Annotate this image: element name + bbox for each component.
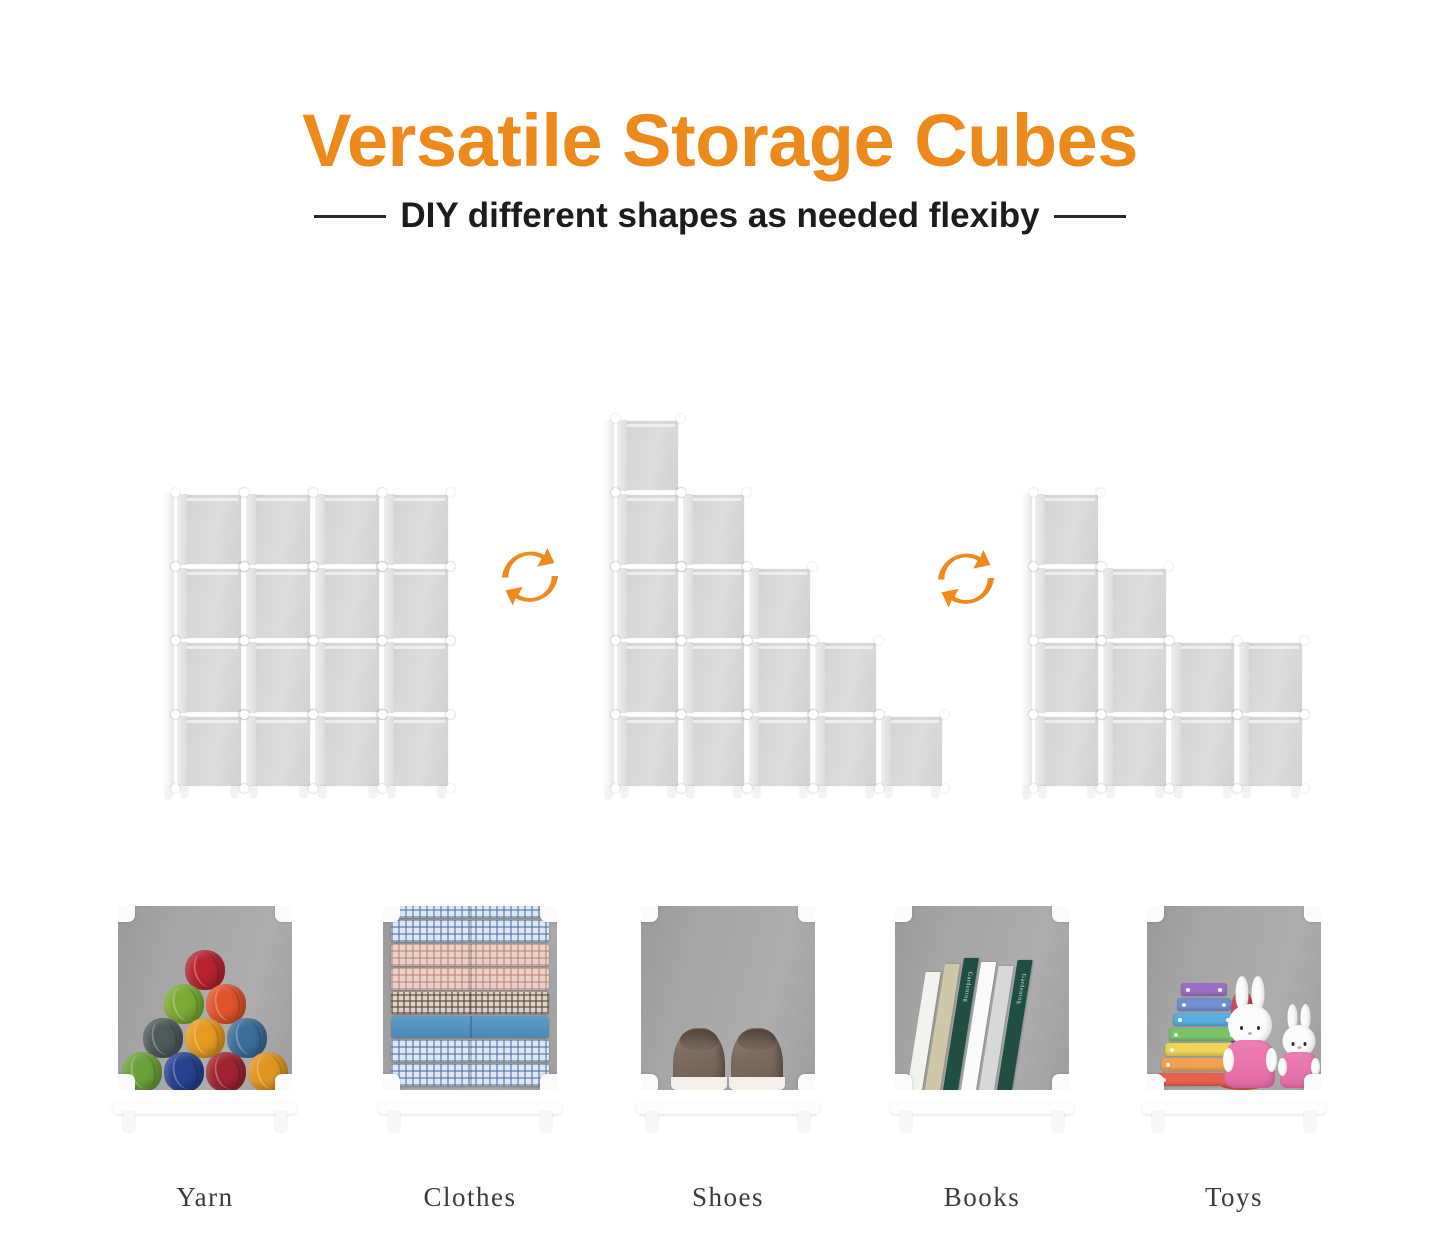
corner-connector-icon <box>109 1074 135 1096</box>
storage-cube <box>1032 713 1102 790</box>
usecase-cube-toys <box>1136 898 1332 1098</box>
corner-connector-icon <box>1304 900 1330 922</box>
folded-shirt <box>391 898 549 918</box>
connector-dot-icon <box>809 710 818 719</box>
connector-dot-icon <box>1029 784 1038 793</box>
connector-dot-icon <box>1097 636 1106 645</box>
folded-shirt <box>391 968 549 990</box>
connector-dot-icon <box>240 784 249 793</box>
shelf-foot <box>250 786 257 798</box>
connector-dot-icon <box>171 562 180 571</box>
bunny-arm-right <box>1266 1048 1277 1072</box>
subtitle-rule-left <box>314 215 386 218</box>
usecase-label-books: Books <box>884 1182 1080 1213</box>
shelf-foot <box>1039 786 1046 798</box>
subtitle-rule-right <box>1054 215 1126 218</box>
bunny-nose <box>1297 1046 1301 1049</box>
storage-cube <box>1032 565 1102 642</box>
shelf-body <box>600 417 946 790</box>
base-leg-left <box>646 1112 658 1132</box>
connector-dot-icon <box>378 562 387 571</box>
connector-dot-icon <box>446 710 455 719</box>
connector-dot-icon <box>742 488 751 497</box>
usecase-cube-shoes <box>630 898 826 1098</box>
subtitle-row: DIY different shapes as needed flexiby <box>0 196 1440 236</box>
connector-dot-icon <box>676 414 685 423</box>
shelf-foot <box>388 786 395 798</box>
shelf-column <box>1168 639 1238 790</box>
shelf-column <box>381 491 452 790</box>
connector-dot-icon <box>1029 488 1038 497</box>
page-header: Versatile Storage Cubes DIY different sh… <box>0 0 1440 236</box>
folded-shirt <box>391 1064 549 1086</box>
connector-dot-icon <box>378 710 387 719</box>
folded-shirt <box>391 1040 549 1062</box>
shelf-configuration-grid-4x4 <box>160 491 452 790</box>
shelf-column <box>746 565 814 790</box>
storage-cube <box>312 713 383 790</box>
corner-connector-icon <box>886 900 912 922</box>
bunny-arm-left <box>1278 1058 1287 1076</box>
shelf-column <box>878 713 946 790</box>
connector-dot-icon <box>240 488 249 497</box>
connector-dot-icon <box>171 710 180 719</box>
connector-dot-icon <box>171 784 180 793</box>
rotate-arrows-icon-2 <box>930 542 1002 614</box>
bunny-eye-left <box>1292 1042 1295 1046</box>
bunny-nose <box>1248 1032 1252 1035</box>
shelf-configuration-staircase-descending-5 <box>600 417 946 790</box>
shelf-column <box>1032 491 1102 790</box>
connector-dot-icon <box>240 562 249 571</box>
storage-cube <box>1168 713 1238 790</box>
shoe-right <box>731 1028 783 1090</box>
corner-connector-icon <box>1138 1074 1164 1096</box>
corner-connector-icon <box>798 900 824 922</box>
connector-dot-icon <box>743 784 752 793</box>
usecase-label-toys: Toys <box>1136 1182 1332 1213</box>
connector-dot-icon <box>378 784 387 793</box>
shelf-column <box>1236 639 1306 790</box>
connector-dot-icon <box>446 488 455 497</box>
book-spine-text: Gardening <box>961 972 972 1003</box>
shelf-foot <box>1088 786 1095 798</box>
connector-dot-icon <box>940 710 949 719</box>
connector-dot-icon <box>1029 562 1038 571</box>
folded-shirt <box>391 920 549 942</box>
storage-cube <box>1032 491 1102 568</box>
base-bar <box>1142 1102 1326 1114</box>
storage-cube <box>381 713 452 790</box>
base-leg-left <box>123 1112 135 1132</box>
usecase-cube-books: GardeningGardening <box>884 898 1080 1098</box>
cube-base <box>1136 1098 1332 1136</box>
base-bar <box>378 1102 562 1114</box>
base-leg-right <box>798 1112 810 1132</box>
cube-base <box>630 1098 826 1136</box>
shelf-foot <box>687 786 694 798</box>
usecase-cube-yarn <box>107 898 303 1098</box>
large-bunny-icon <box>1221 976 1279 1088</box>
connector-dot-icon <box>1097 562 1106 571</box>
corner-connector-icon <box>1138 900 1164 922</box>
folded-shirt <box>391 992 549 1014</box>
connector-dot-icon <box>171 636 180 645</box>
shelf-foot <box>319 786 326 798</box>
shelf-foot <box>1156 786 1163 798</box>
corner-connector-icon <box>1052 900 1078 922</box>
base-leg-right <box>1052 1112 1064 1132</box>
storage-cube <box>746 713 814 790</box>
shelf-body <box>160 491 452 790</box>
book-spine-text: Gardening <box>1015 974 1026 1005</box>
bunny-eye-right <box>1257 1026 1260 1030</box>
shelf-column <box>243 491 314 790</box>
connector-dot-icon <box>677 488 686 497</box>
rotate-arrows-icon <box>494 540 566 612</box>
storage-cube <box>243 565 314 642</box>
shelf-foot <box>668 786 675 798</box>
cube-base <box>884 1098 1080 1136</box>
connector-dot-icon <box>809 636 818 645</box>
connector-dot-icon <box>1096 488 1105 497</box>
connector-dot-icon <box>240 710 249 719</box>
bunny-eye-right <box>1304 1042 1307 1046</box>
connector-dot-icon <box>309 636 318 645</box>
shelf-foot <box>734 786 741 798</box>
shelf-foot <box>885 786 892 798</box>
connector-dot-icon <box>240 636 249 645</box>
storage-cube <box>243 639 314 716</box>
connector-dot-icon <box>1300 710 1309 719</box>
storage-cube <box>614 417 682 494</box>
usecase-cubes-row: Yarn Clothes <box>0 898 1440 1243</box>
storage-cube <box>174 565 245 642</box>
storage-cube <box>614 639 682 716</box>
shelf-foot <box>1292 786 1299 798</box>
storage-cube <box>174 639 245 716</box>
book-row-icon: GardeningGardening <box>907 958 1033 1090</box>
usecase-label-clothes: Clothes <box>372 1182 568 1213</box>
corner-connector-icon <box>632 900 658 922</box>
connector-dot-icon <box>1029 636 1038 645</box>
storage-cube <box>243 491 314 568</box>
shelf-foot <box>800 786 807 798</box>
base-leg-right <box>540 1112 552 1132</box>
storage-cube <box>1032 639 1102 716</box>
connector-dot-icon <box>378 488 387 497</box>
base-bar <box>636 1102 820 1114</box>
shelf-foot <box>300 786 307 798</box>
connector-dot-icon <box>1165 710 1174 719</box>
shelf-foot <box>1175 786 1182 798</box>
connector-dot-icon <box>677 784 686 793</box>
base-bar <box>113 1102 297 1114</box>
connector-dot-icon <box>378 636 387 645</box>
usecase-books: GardeningGardening Books <box>884 898 1080 1213</box>
shelf-foot <box>369 786 376 798</box>
corner-connector-icon <box>632 1074 658 1096</box>
shelf-column <box>614 417 682 790</box>
xylophone-and-bunnies-icon <box>1147 906 1321 1090</box>
connector-dot-icon <box>875 710 884 719</box>
page-title: Versatile Storage Cubes <box>0 104 1440 178</box>
cube-base <box>107 1098 303 1136</box>
page-subtitle: DIY different shapes as needed flexiby <box>400 196 1039 236</box>
base-leg-left <box>388 1112 400 1132</box>
base-bar <box>890 1102 1074 1114</box>
connector-dot-icon <box>1097 710 1106 719</box>
connector-dot-icon <box>940 784 949 793</box>
connector-dot-icon <box>677 562 686 571</box>
connector-dot-icon <box>611 562 620 571</box>
storage-cube <box>312 491 383 568</box>
storage-cube <box>174 491 245 568</box>
corner-connector-icon <box>109 900 135 922</box>
shelf-foot <box>181 786 188 798</box>
shelf-foot <box>438 786 445 798</box>
shoe-left <box>673 1028 725 1090</box>
storage-cube <box>680 713 748 790</box>
connector-dot-icon <box>611 636 620 645</box>
shelf-foot <box>866 786 873 798</box>
storage-cube <box>878 713 946 790</box>
connector-dot-icon <box>1164 562 1173 571</box>
shelf-body <box>1018 491 1306 790</box>
corner-connector-icon <box>540 900 566 922</box>
connector-dot-icon <box>677 710 686 719</box>
connector-dot-icon <box>309 562 318 571</box>
connector-dot-icon <box>874 636 883 645</box>
base-leg-right <box>275 1112 287 1132</box>
usecase-shoes: Shoes <box>630 898 826 1213</box>
shelf-column <box>312 491 383 790</box>
storage-cube <box>312 565 383 642</box>
shelf-column <box>680 491 748 790</box>
storage-cube <box>680 639 748 716</box>
loafer-shoes-icon <box>673 1028 783 1090</box>
corner-connector-icon <box>540 1074 566 1096</box>
storage-cube <box>1168 639 1238 716</box>
usecase-label-shoes: Shoes <box>630 1182 826 1213</box>
storage-cube <box>680 565 748 642</box>
connector-dot-icon <box>1300 636 1309 645</box>
connector-dot-icon <box>446 784 455 793</box>
storage-cube <box>1236 713 1306 790</box>
connector-dot-icon <box>1233 636 1242 645</box>
shelf-foot <box>819 786 826 798</box>
cube-base <box>372 1098 568 1136</box>
storage-cube <box>1236 639 1306 716</box>
corner-connector-icon <box>374 1074 400 1096</box>
usecase-toys: Toys <box>1136 898 1332 1213</box>
storage-cube <box>1100 639 1170 716</box>
shelf-foot <box>231 786 238 798</box>
base-leg-left <box>1152 1112 1164 1132</box>
shelf-foot <box>1243 786 1250 798</box>
bunny-eye-left <box>1240 1026 1243 1030</box>
connector-dot-icon <box>446 636 455 645</box>
corner-connector-icon <box>886 1074 912 1096</box>
shelf-column <box>174 491 245 790</box>
connector-dot-icon <box>1300 784 1309 793</box>
connector-dot-icon <box>611 414 620 423</box>
connector-dot-icon <box>611 784 620 793</box>
usecase-yarn: Yarn <box>107 898 303 1213</box>
storage-cube <box>614 565 682 642</box>
corner-connector-icon <box>275 900 301 922</box>
shelf-foot <box>932 786 939 798</box>
shelf-foot <box>1107 786 1114 798</box>
folded-shirt <box>391 944 549 966</box>
connector-dot-icon <box>309 488 318 497</box>
storage-cube <box>174 713 245 790</box>
connector-dot-icon <box>1029 710 1038 719</box>
shelf-column <box>812 639 880 790</box>
connector-dot-icon <box>446 562 455 571</box>
corner-connector-icon <box>374 900 400 922</box>
storage-cube <box>680 491 748 568</box>
usecase-clothes: Clothes <box>372 898 568 1213</box>
shelf-foot <box>753 786 760 798</box>
storage-cube <box>746 639 814 716</box>
connector-dot-icon <box>1165 636 1174 645</box>
connector-dot-icon <box>743 562 752 571</box>
storage-cube <box>1100 713 1170 790</box>
storage-cube <box>812 639 880 716</box>
connector-dot-icon <box>1233 710 1242 719</box>
connector-dot-icon <box>611 710 620 719</box>
storage-cube <box>381 491 452 568</box>
connector-dot-icon <box>1097 784 1106 793</box>
folded-shirts-icon <box>391 898 549 1088</box>
storage-cube <box>614 713 682 790</box>
connector-dot-icon <box>611 488 620 497</box>
corner-connector-icon <box>1304 1074 1330 1096</box>
storage-cube <box>381 639 452 716</box>
connector-dot-icon <box>171 488 180 497</box>
usecase-cube-clothes <box>372 898 568 1098</box>
connector-dot-icon <box>808 562 817 571</box>
storage-cube <box>1100 565 1170 642</box>
usecase-label-yarn: Yarn <box>107 1182 303 1213</box>
folded-shirt <box>391 1016 549 1038</box>
storage-cube <box>312 639 383 716</box>
connector-dot-icon <box>1165 784 1174 793</box>
storage-cube <box>243 713 314 790</box>
base-leg-left <box>900 1112 912 1132</box>
yarn-ball <box>206 1052 246 1092</box>
yarn-balls-icon <box>121 950 289 1086</box>
storage-cube <box>381 565 452 642</box>
storage-cube <box>614 491 682 568</box>
connector-dot-icon <box>809 784 818 793</box>
connector-dot-icon <box>875 784 884 793</box>
connector-dot-icon <box>309 784 318 793</box>
connector-dot-icon <box>677 636 686 645</box>
connector-dot-icon <box>309 710 318 719</box>
corner-connector-icon <box>798 1074 824 1096</box>
base-leg-right <box>1304 1112 1316 1132</box>
shelf-configuration-staircase-step-4 <box>1018 491 1306 790</box>
shelf-foot <box>621 786 628 798</box>
yarn-row <box>121 1052 289 1092</box>
corner-connector-icon <box>275 1074 301 1096</box>
shelf-foot <box>1224 786 1231 798</box>
corner-connector-icon <box>1052 1074 1078 1096</box>
shelf-column <box>1100 565 1170 790</box>
connector-dot-icon <box>743 636 752 645</box>
shelf-configuration-showcase <box>0 370 1440 790</box>
storage-cube <box>746 565 814 642</box>
connector-dot-icon <box>1233 784 1242 793</box>
bunny-arm-left <box>1223 1048 1234 1072</box>
yarn-ball <box>164 1052 204 1092</box>
connector-dot-icon <box>743 710 752 719</box>
storage-cube <box>812 713 880 790</box>
